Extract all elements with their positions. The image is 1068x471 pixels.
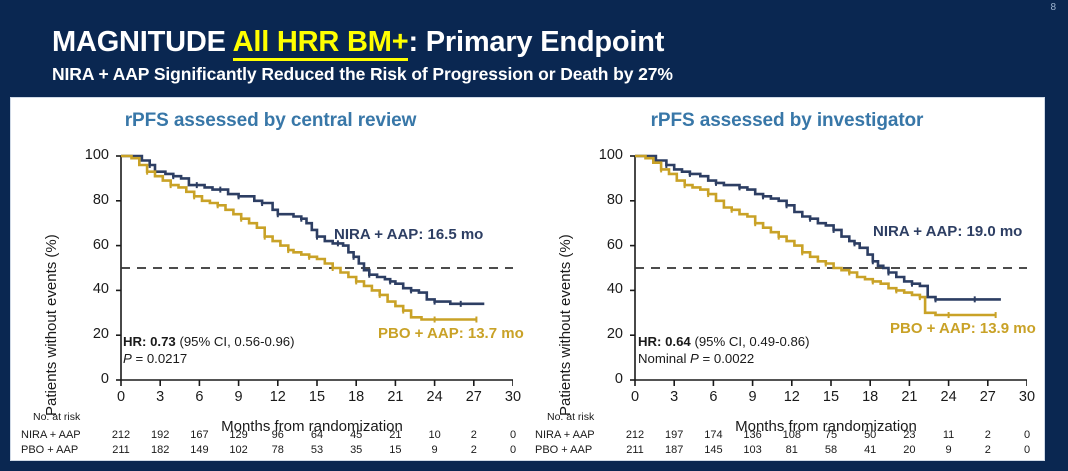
risk-cell: 35 [343,444,369,456]
risk-cell: 9 [422,444,448,456]
pbo-median-label: PBO + AAP: 13.7 mo [378,325,524,342]
risk-row-label: NIRA + AAP [21,429,81,441]
slide-header: MAGNITUDE All HRR BM+: Primary Endpoint … [0,0,1068,98]
chart-central-review: rPFS assessed by central review Patients… [11,98,530,460]
risk-cell: 187 [661,444,687,456]
risk-cell: 102 [226,444,252,456]
risk-cell: 212 [622,429,648,441]
risk-cell: 2 [461,429,487,441]
risk-cell: 0 [500,429,526,441]
title-suffix: : Primary Endpoint [408,26,664,58]
risk-cell: 2 [975,444,1001,456]
risk-cell: 149 [186,444,212,456]
risk-cell: 129 [226,429,252,441]
risk-cell: 197 [661,429,687,441]
risk-cell: 64 [304,429,330,441]
risk-cell: 11 [936,429,962,441]
risk-row-label: PBO + AAP [21,444,78,456]
content-panel: rPFS assessed by central review Patients… [10,97,1045,461]
risk-cell: 45 [343,429,369,441]
risk-cell: 21 [382,429,408,441]
pbo-median-label: PBO + AAP: 13.9 mo [890,320,1036,337]
y-axis-tick: 0 [79,371,109,387]
risk-cell: 182 [147,444,173,456]
risk-cell: 20 [896,444,922,456]
y-axis-label: Patients without events (%) [43,234,60,416]
hazard-ratio-stats: HR: 0.73 (95% CI, 0.56-0.96)P = 0.0217 [123,334,295,367]
risk-cell: 78 [265,444,291,456]
title-prefix: MAGNITUDE [52,26,233,58]
risk-cell: 0 [1014,429,1040,441]
risk-cell: 41 [857,444,883,456]
y-axis-label: Patients without events (%) [557,234,574,416]
risk-cell: 15 [382,444,408,456]
risk-row-label: NIRA + AAP [535,429,595,441]
risk-cell: 75 [818,429,844,441]
y-axis-tick: 80 [79,192,109,208]
risk-cell: 174 [700,429,726,441]
y-axis-tick: 80 [593,192,623,208]
risk-cell: 2 [461,444,487,456]
risk-cell: 167 [186,429,212,441]
y-axis-tick: 20 [593,326,623,342]
chart-title: rPFS assessed by central review [11,110,530,132]
risk-cell: 212 [108,429,134,441]
risk-cell: 211 [622,444,648,456]
risk-cell: 23 [896,429,922,441]
nira-median-label: NIRA + AAP: 16.5 mo [334,226,483,243]
risk-cell: 50 [857,429,883,441]
risk-cell: 145 [700,444,726,456]
risk-cell: 10 [422,429,448,441]
hr-line: HR: 0.64 (95% CI, 0.49-0.86) [638,334,810,351]
risk-cell: 0 [500,444,526,456]
y-axis-tick: 60 [79,237,109,253]
title-highlight: All HRR BM+ [233,26,409,61]
chart-title: rPFS assessed by investigator [530,110,1044,132]
hazard-ratio-stats: HR: 0.64 (95% CI, 0.49-0.86)Nominal P = … [638,334,810,367]
risk-cell: 81 [779,444,805,456]
y-axis-tick: 40 [593,281,623,297]
risk-table-header: No. at risk [33,411,80,423]
risk-cell: 192 [147,429,173,441]
chart-investigator: rPFS assessed by investigator Patients w… [530,98,1044,460]
risk-cell: 58 [818,444,844,456]
p-value-line: P = 0.0217 [123,351,295,368]
hr-line: HR: 0.73 (95% CI, 0.56-0.96) [123,334,295,351]
risk-cell: 9 [936,444,962,456]
p-value-line: Nominal P = 0.0022 [638,351,810,368]
y-axis-tick: 60 [593,237,623,253]
risk-cell: 53 [304,444,330,456]
nira-median-label: NIRA + AAP: 19.0 mo [873,223,1022,240]
risk-cell: 211 [108,444,134,456]
risk-cell: 136 [740,429,766,441]
y-axis-tick: 100 [79,147,109,163]
y-axis-tick: 0 [593,371,623,387]
page-subtitle: NIRA + AAP Significantly Reduced the Ris… [52,64,673,85]
y-axis-tick: 40 [79,281,109,297]
page-title: MAGNITUDE All HRR BM+: Primary Endpoint [52,26,664,59]
risk-cell: 108 [779,429,805,441]
risk-table-header: No. at risk [547,411,594,423]
y-axis-tick: 100 [593,147,623,163]
risk-cell: 0 [1014,444,1040,456]
risk-cell: 2 [975,429,1001,441]
y-axis-tick: 20 [79,326,109,342]
risk-cell: 103 [740,444,766,456]
risk-row-label: PBO + AAP [535,444,592,456]
risk-cell: 96 [265,429,291,441]
